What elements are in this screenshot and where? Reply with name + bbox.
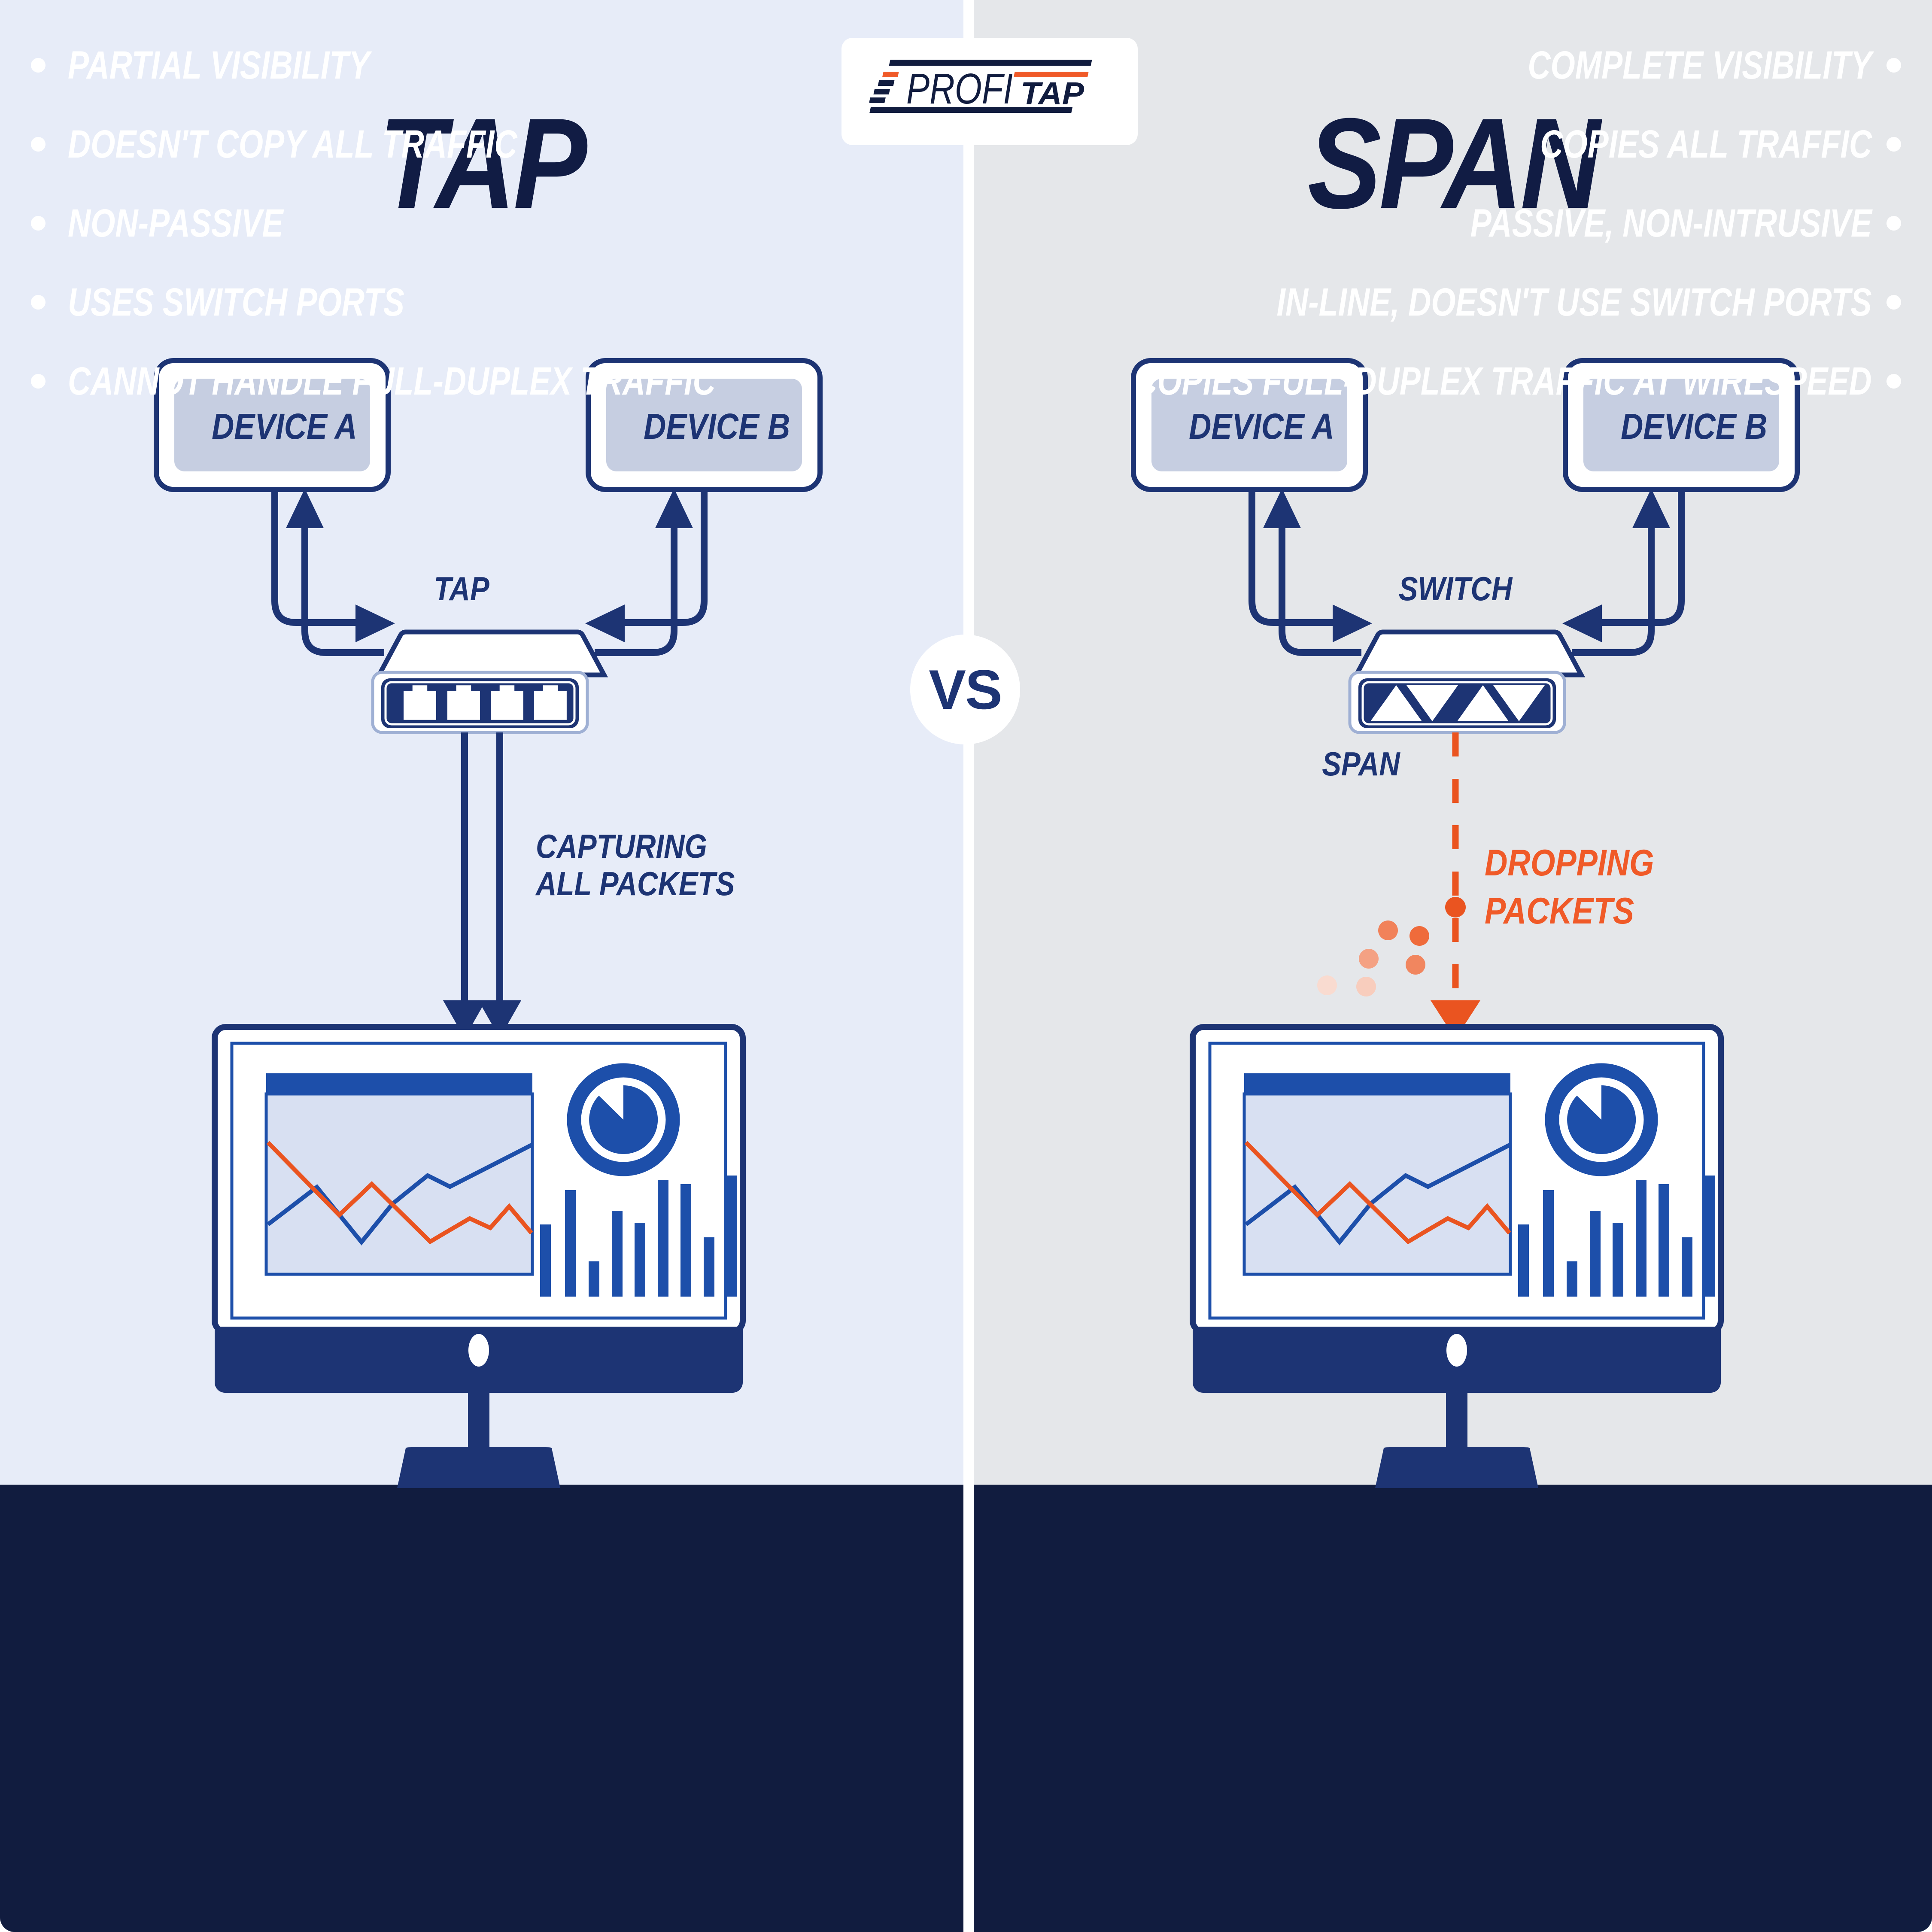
bullet-dot-icon — [31, 137, 46, 152]
dropping-line-1: DROPPING — [1485, 839, 1654, 887]
bullet-dot-icon — [1886, 295, 1901, 310]
bullet-dot-icon — [31, 58, 46, 73]
bullet-dot-icon — [1886, 58, 1901, 73]
list-item: COMPLETE VISIBILITY — [1442, 26, 1901, 105]
list-item: PASSIVE, NON-INTRUSIVE — [1370, 184, 1901, 263]
capturing-all-packets-label: CAPTURING ALL PACKETS — [536, 828, 735, 903]
span-bullet-list: PARTIAL VISIBILITY DOESN'T COPY ALL TRAF… — [0, 26, 958, 421]
bullet-label: PARTIAL VISIBILITY — [68, 46, 370, 85]
list-item: IN-LINE, DOESN'T USE SWITCH PORTS — [1128, 263, 1901, 342]
infographic-root: TAP SPAN — [0, 0, 1932, 1932]
bullet-dot-icon — [1886, 137, 1901, 152]
list-item: DOESN'T COPY ALL TRAFFIC — [31, 105, 629, 184]
bullet-label: COMPLETE VISIBILITY — [1528, 46, 1872, 85]
switch-node-label: SWITCH — [1382, 570, 1529, 608]
svg-text:PROFI: PROFI — [906, 65, 1013, 113]
bullet-label: PASSIVE, NON-INTRUSIVE — [1470, 204, 1872, 243]
span-link-label: SPAN — [1309, 745, 1413, 783]
dropping-packets-label: DROPPING PACKETS — [1485, 839, 1654, 936]
dropping-line-2: PACKETS — [1485, 887, 1654, 936]
bullet-label: NON-PASSIVE — [68, 204, 283, 243]
vs-badge: VS — [910, 635, 1020, 744]
bullet-dot-icon — [31, 216, 46, 231]
bullet-dot-icon — [31, 295, 46, 310]
list-item: USES SWITCH PORTS — [31, 263, 489, 342]
bullet-label: CANNOT HANDLE FULL-DUPLEX TRAFFIC — [68, 361, 716, 401]
svg-text:TAP: TAP — [1021, 76, 1084, 111]
profitap-logo: PROFI TAP — [841, 38, 1138, 145]
list-item: CANNOT HANDLE FULL-DUPLEX TRAFFIC — [31, 342, 878, 421]
bullet-label: DOESN'T COPY ALL TRAFFIC — [68, 125, 517, 164]
vs-label: VS — [929, 662, 1001, 717]
list-item: NON-PASSIVE — [31, 184, 337, 263]
bullet-label: COPIES FULL-DUPLEX TRAFFIC AT WIRESPEED — [1135, 361, 1872, 401]
bullet-label: USES SWITCH PORTS — [68, 283, 404, 322]
list-item: COPIES FULL-DUPLEX TRAFFIC AT WIRESPEED — [950, 342, 1901, 421]
list-item: PARTIAL VISIBILITY — [31, 26, 445, 105]
bullet-label: IN-LINE, DOESN'T USE SWITCH PORTS — [1277, 283, 1872, 322]
capturing-line-1: CAPTURING — [536, 828, 735, 865]
profitap-logo-mark: PROFI TAP — [869, 53, 1110, 130]
list-item: COPIES ALL TRAFFIC — [1457, 105, 1901, 184]
capturing-line-2: ALL PACKETS — [536, 865, 735, 902]
tap-footer-panel — [0, 1485, 963, 1932]
bullet-dot-icon — [31, 374, 46, 389]
span-footer-panel — [974, 1485, 1932, 1932]
tap-node-label: TAP — [434, 570, 489, 608]
bullet-dot-icon — [1886, 216, 1901, 231]
bullet-label: COPIES ALL TRAFFIC — [1540, 125, 1872, 164]
bullet-dot-icon — [1886, 374, 1901, 389]
